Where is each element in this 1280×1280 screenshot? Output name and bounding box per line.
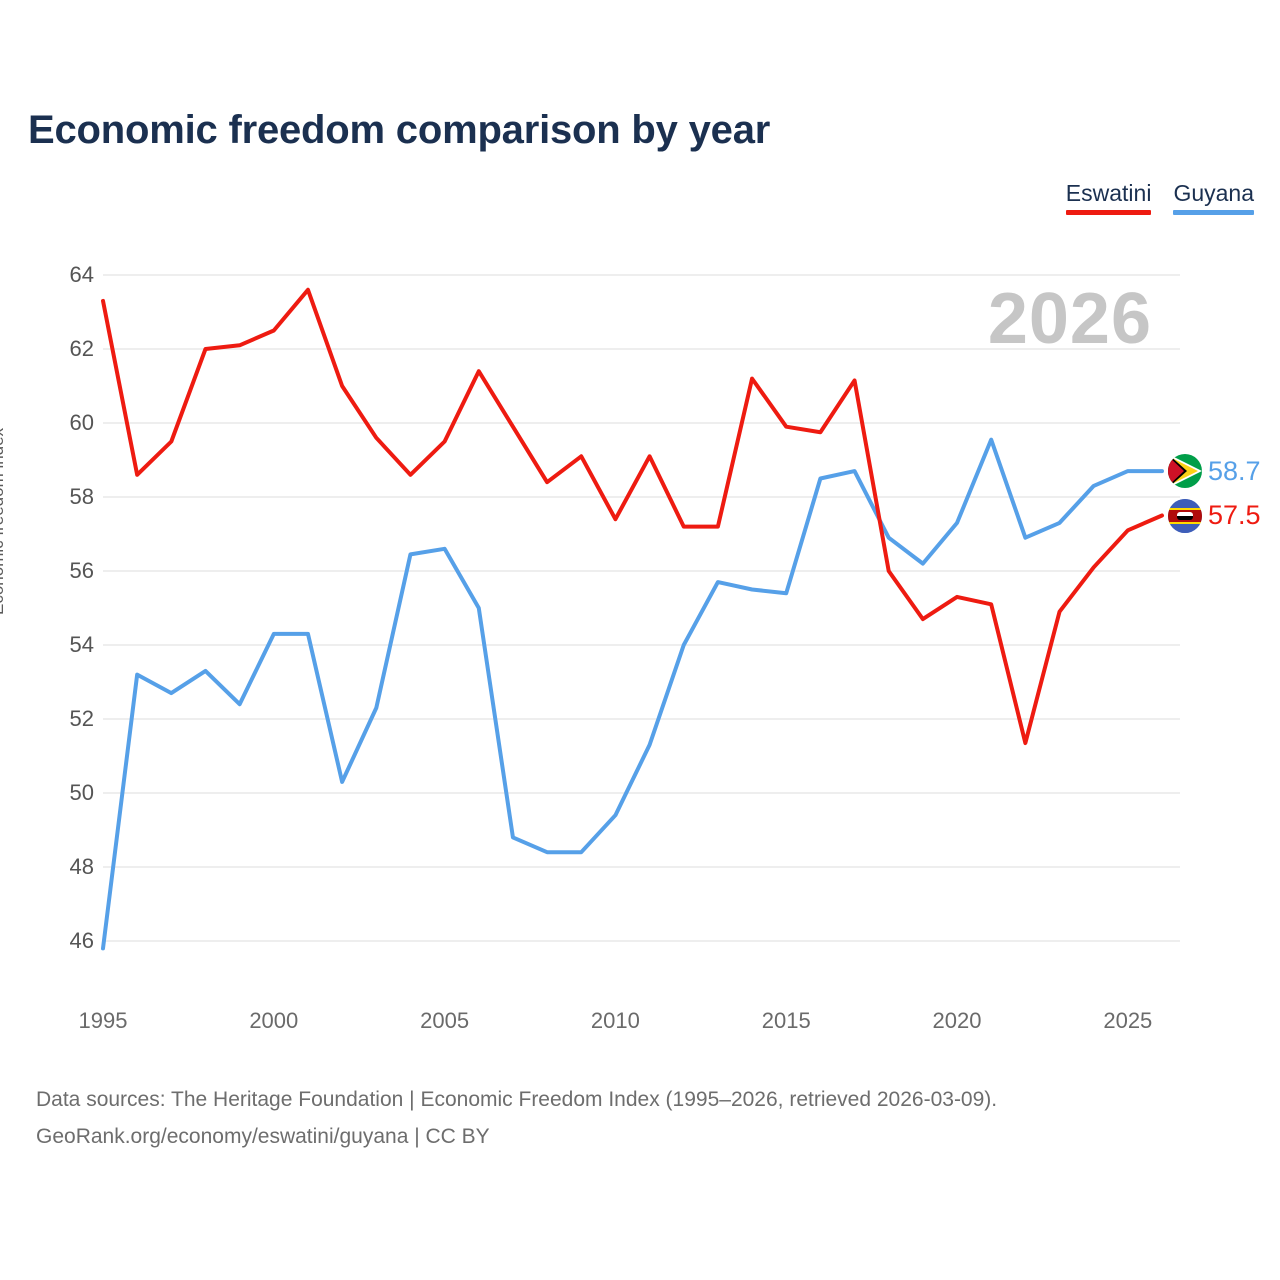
x-tick-label: 2020 (897, 1008, 1017, 1034)
endpoint-guyana[interactable]: 58.7 (1168, 454, 1261, 488)
series-line-guyana (103, 440, 1162, 949)
legend-swatch-guyana (1173, 210, 1254, 215)
footer-data-sources: Data sources: The Heritage Foundation | … (36, 1088, 997, 1112)
footer-attribution: GeoRank.org/economy/eswatini/guyana | CC… (36, 1125, 490, 1149)
page-title: Economic freedom comparison by year (28, 108, 770, 153)
y-axis-label: Economic freedom index (0, 355, 8, 615)
y-tick-label: 58 (34, 484, 94, 510)
x-tick-label: 2010 (555, 1008, 675, 1034)
x-tick-label: 1995 (43, 1008, 163, 1034)
legend-item-eswatini[interactable]: Eswatini (1066, 180, 1152, 215)
gridlines (103, 275, 1180, 941)
legend-swatch-eswatini (1066, 210, 1152, 215)
eswatini-flag-icon (1168, 499, 1202, 533)
x-tick-label: 2015 (726, 1008, 846, 1034)
endpoint-value-eswatini: 57.5 (1208, 500, 1261, 531)
chart-legend: Eswatini Guyana (1066, 180, 1254, 215)
y-tick-label: 48 (34, 854, 94, 880)
chart-container: Economic freedom comparison by year Eswa… (0, 0, 1280, 1280)
y-tick-label: 60 (34, 410, 94, 436)
year-watermark: 2026 (988, 278, 1152, 360)
legend-item-guyana[interactable]: Guyana (1173, 180, 1254, 215)
y-tick-label: 54 (34, 632, 94, 658)
endpoint-value-guyana: 58.7 (1208, 456, 1261, 487)
y-tick-label: 52 (34, 706, 94, 732)
legend-label-guyana: Guyana (1173, 180, 1254, 206)
guyana-flag-icon (1168, 454, 1202, 488)
y-tick-label: 46 (34, 928, 94, 954)
y-tick-label: 56 (34, 558, 94, 584)
x-tick-label: 2005 (385, 1008, 505, 1034)
legend-label-eswatini: Eswatini (1066, 180, 1152, 206)
y-tick-label: 62 (34, 336, 94, 362)
y-tick-label: 64 (34, 262, 94, 288)
endpoint-eswatini[interactable]: 57.5 (1168, 499, 1261, 533)
x-tick-label: 2000 (214, 1008, 334, 1034)
y-tick-label: 50 (34, 780, 94, 806)
x-tick-label: 2025 (1068, 1008, 1188, 1034)
